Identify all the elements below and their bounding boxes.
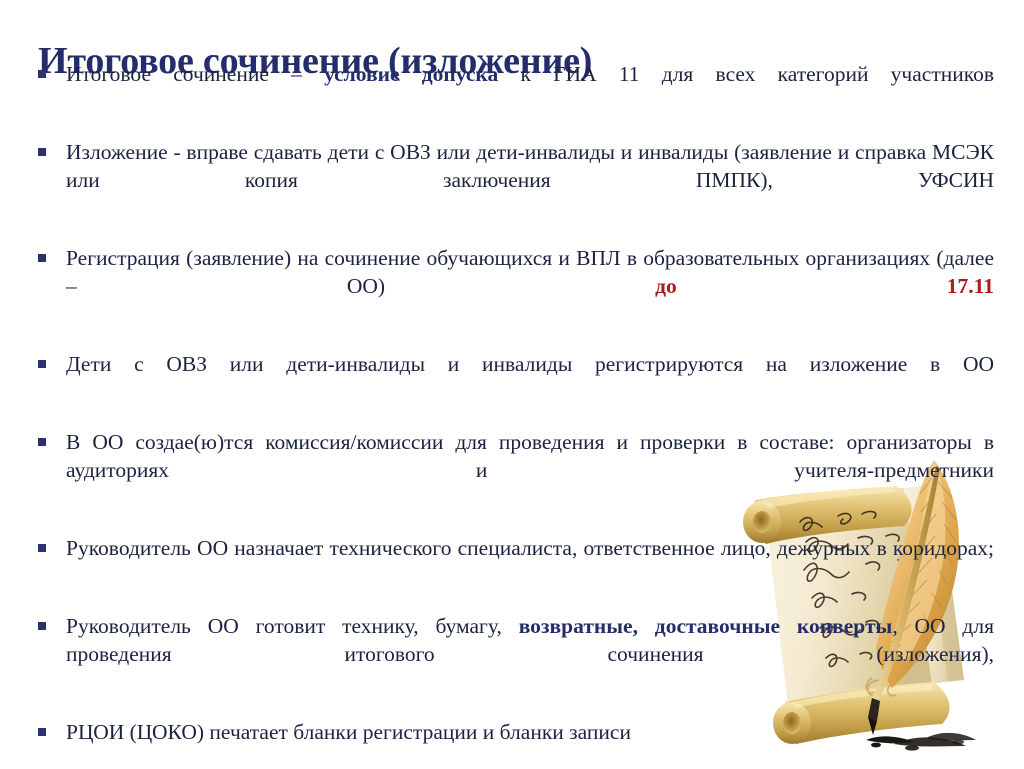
bullet-4-seg-0: Дети с ОВЗ или дети-инвалиды и инвалиды … [66,352,994,376]
list-item: Руководитель ОО назначает технического с… [30,534,994,590]
list-item: Руководитель ОО готовит технику, бумагу,… [30,612,994,696]
envelopes-emphasis: возвратные, доставочные конверты [519,614,893,638]
slide-root: Итоговое сочинение (изложение) [0,0,1024,769]
bullet-5-text: В ОО создае(ю)тся комиссия/комиссии для … [66,428,994,512]
square-bullet-icon [38,70,46,78]
bullet-3-text: Регистрация (заявление) на сочинение обу… [66,244,994,328]
square-bullet-icon [38,438,46,446]
square-bullet-icon [38,148,46,156]
bullet-8-seg-0: РЦОИ (ЦОКО) печатает бланки регистрации … [66,720,631,744]
bullet-1-seg-1: условие допуска [324,62,498,86]
bullet-6-seg-0: Руководитель ОО назначает технического с… [66,536,994,560]
square-bullet-icon [38,622,46,630]
list-item: В ОО создае(ю)тся комиссия/комиссии для … [30,428,994,512]
list-item: Итоговое сочинение – условие допуска к Г… [30,60,994,116]
bullet-7-seg-0: Руководитель ОО готовит технику, бумагу, [66,614,519,638]
list-item: Регистрация (заявление) на сочинение обу… [30,244,994,328]
list-item: РЦОИ (ЦОКО) печатает бланки регистрации … [30,718,994,746]
bullet-2-text: Изложение - вправе сдавать дети с ОВЗ ил… [66,138,994,222]
bullet-1-seg-2: к ГИА 11 для всех категорий участников [498,62,994,86]
square-bullet-icon [38,360,46,368]
bullet-5-seg-0: В ОО создае(ю)тся комиссия/комиссии для … [66,430,994,482]
bullet-4-text: Дети с ОВЗ или дети-инвалиды и инвалиды … [66,350,994,406]
deadline-date: до 17.11 [655,274,994,298]
bullet-8-text: РЦОИ (ЦОКО) печатает бланки регистрации … [66,718,994,746]
square-bullet-icon [38,254,46,262]
bullet-6-text: Руководитель ОО назначает технического с… [66,534,994,590]
bullet-1-text: Итоговое сочинение – условие допуска к Г… [66,60,994,116]
square-bullet-icon [38,728,46,736]
list-item: Изложение - вправе сдавать дети с ОВЗ ил… [30,138,994,222]
bullet-list: Итоговое сочинение – условие допуска к Г… [30,60,994,746]
bullet-1-seg-0: Итоговое сочинение – [66,62,324,86]
bullet-7-text: Руководитель ОО готовит технику, бумагу,… [66,612,994,696]
bullet-2-seg-0: Изложение - вправе сдавать дети с ОВЗ ил… [66,140,994,192]
square-bullet-icon [38,544,46,552]
list-item: Дети с ОВЗ или дети-инвалиды и инвалиды … [30,350,994,406]
